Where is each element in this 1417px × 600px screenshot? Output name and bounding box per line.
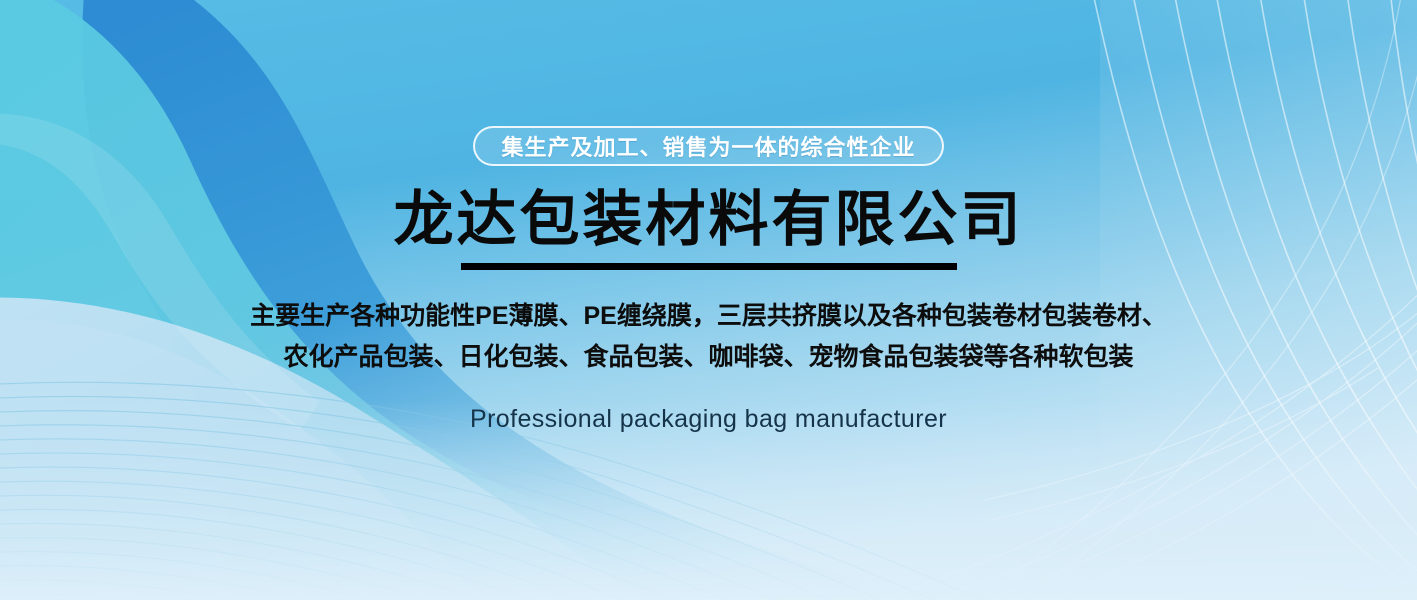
tagline-badge: 集生产及加工、销售为一体的综合性企业 bbox=[473, 126, 943, 166]
title-underline-rule bbox=[461, 263, 957, 270]
banner-content: 集生产及加工、销售为一体的综合性企业 龙达包装材料有限公司 主要生产各种功能性P… bbox=[0, 0, 1417, 600]
description-line-1: 主要生产各种功能性PE薄膜、PE缠绕膜，三层共挤膜以及各种包装卷材包装卷材、 bbox=[250, 296, 1167, 337]
description-line-2: 农化产品包装、日化包装、食品包装、咖啡袋、宠物食品包装袋等各种软包装 bbox=[250, 337, 1167, 378]
description-block: 主要生产各种功能性PE薄膜、PE缠绕膜，三层共挤膜以及各种包装卷材包装卷材、 农… bbox=[250, 296, 1167, 377]
tagline-badge-label: 集生产及加工、销售为一体的综合性企业 bbox=[501, 130, 915, 162]
promo-banner: 集生产及加工、销售为一体的综合性企业 龙达包装材料有限公司 主要生产各种功能性P… bbox=[0, 0, 1417, 600]
company-title: 龙达包装材料有限公司 bbox=[394, 188, 1024, 251]
english-subtitle: Professional packaging bag manufacturer bbox=[470, 405, 947, 434]
